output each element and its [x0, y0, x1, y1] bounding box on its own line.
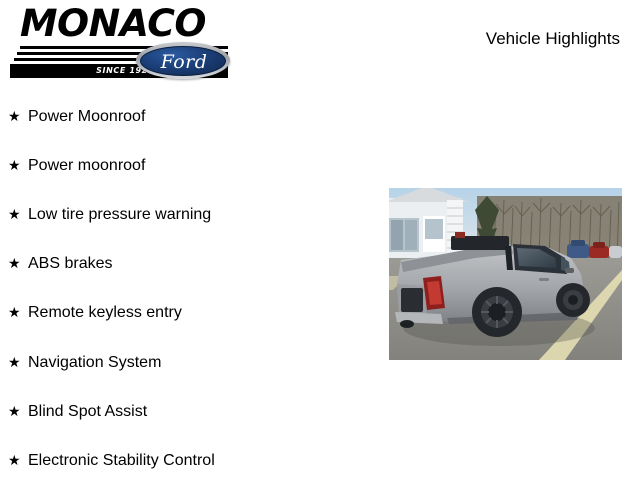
- star-bullet-icon: ★: [8, 255, 28, 273]
- vehicle-photo: [389, 188, 622, 360]
- list-item-label: Navigation System: [28, 353, 380, 373]
- page-title: Vehicle Highlights: [420, 28, 620, 50]
- star-bullet-icon: ★: [8, 403, 28, 421]
- ford-oval-icon: Ford: [136, 42, 230, 79]
- list-item: ★ Power Moonroof: [0, 92, 380, 141]
- star-bullet-icon: ★: [8, 108, 28, 126]
- list-item: ★ Remote keyless entry: [0, 289, 380, 338]
- star-bullet-icon: ★: [8, 304, 28, 322]
- list-item: ★ Blind Spot Assist: [0, 387, 380, 436]
- star-bullet-icon: ★: [8, 206, 28, 224]
- list-item-label: Low tire pressure warning: [28, 205, 380, 225]
- star-bullet-icon: ★: [8, 354, 28, 372]
- vehicle-photo-illustration: [389, 188, 622, 360]
- list-item-label: Blind Spot Assist: [28, 402, 380, 422]
- list-item: ★ Navigation System: [0, 338, 380, 387]
- list-item: ★ ABS brakes: [0, 240, 380, 289]
- monaco-ford-logo: MONACO SINCE 1922 Ford: [8, 4, 230, 84]
- logo-wordmark-text: MONACO: [20, 4, 234, 44]
- vehicle-highlights-list: ★ Power Moonroof ★ Power moonroof ★ Low …: [0, 92, 380, 486]
- list-item: ★ Low tire pressure warning: [0, 190, 380, 239]
- star-bullet-icon: ★: [8, 452, 28, 470]
- list-item: ★ Power moonroof: [0, 141, 380, 190]
- list-item-label: Electronic Stability Control: [28, 451, 380, 471]
- list-item-label: ABS brakes: [28, 254, 380, 274]
- list-item-label: Power Moonroof: [28, 107, 380, 127]
- list-item-label: Remote keyless entry: [28, 303, 380, 323]
- ford-script-text: Ford: [141, 47, 227, 77]
- star-bullet-icon: ★: [8, 157, 28, 175]
- page-header: MONACO SINCE 1922 Ford Vehicle Highlight…: [0, 0, 640, 90]
- ford-oval-inner: Ford: [140, 46, 226, 76]
- list-item: ★ Electronic Stability Control: [0, 436, 380, 485]
- list-item-label: Power moonroof: [28, 156, 380, 176]
